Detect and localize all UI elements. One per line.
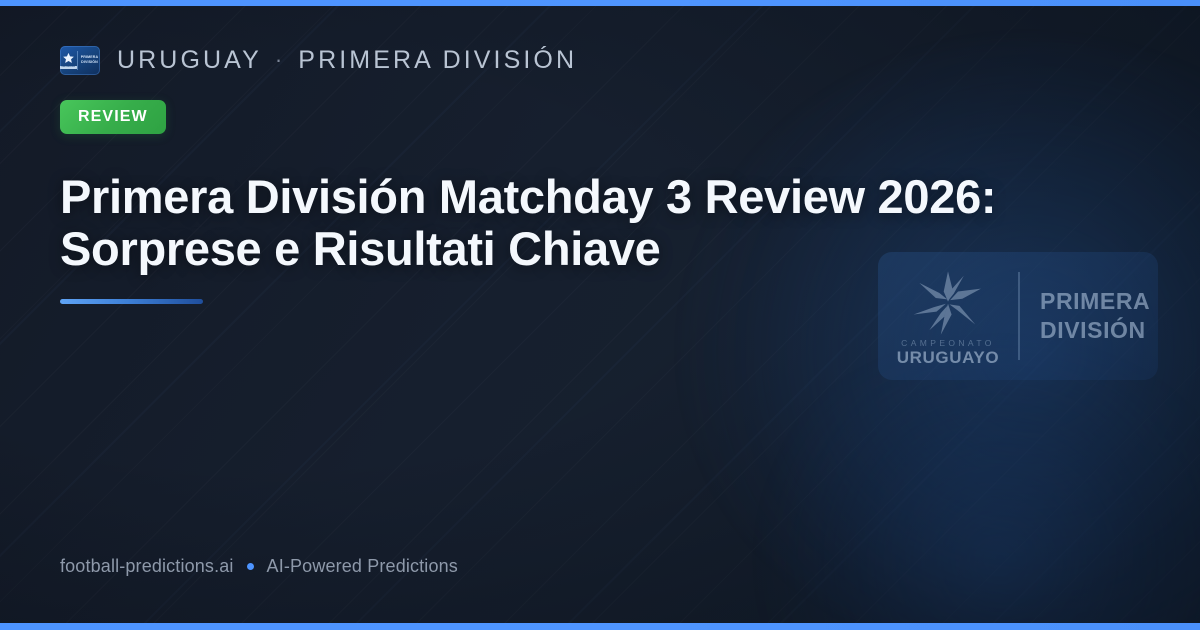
- breadcrumb-country: URUGUAY: [117, 46, 262, 75]
- bottom-accent-bar: [0, 623, 1200, 630]
- page-title: Primera División Matchday 3 Review 2026:…: [60, 171, 1050, 275]
- card-content: URUGUAY PRIMERA DIVISIÓN URUGUAY · PRIME…: [0, 0, 1200, 630]
- title-accent-rule: [60, 299, 203, 304]
- bullet-dot-icon: [247, 563, 254, 570]
- status-badge: REVIEW: [60, 100, 166, 134]
- og-share-card: CAMPEONATO URUGUAYO PRIMERA DIVISIÓN URU…: [0, 0, 1200, 630]
- star-icon: URUGUAY: [60, 46, 77, 75]
- footer: football-predictions.ai AI-Powered Predi…: [60, 556, 458, 577]
- footer-site-name: football-predictions.ai: [60, 556, 234, 577]
- breadcrumb-competition: PRIMERA DIVISIÓN: [298, 46, 577, 75]
- primera-division-league-badge-icon: URUGUAY PRIMERA DIVISIÓN: [60, 46, 100, 75]
- badge-league-label: PRIMERA DIVISIÓN: [78, 56, 100, 65]
- top-accent-bar: [0, 0, 1200, 6]
- breadcrumb-separator: ·: [275, 47, 285, 73]
- breadcrumb: URUGUAY PRIMERA DIVISIÓN URUGUAY · PRIME…: [60, 46, 577, 75]
- footer-tagline: AI-Powered Predictions: [267, 556, 458, 577]
- badge-country-label: URUGUAY: [60, 66, 77, 70]
- breadcrumb-text: URUGUAY · PRIMERA DIVISIÓN: [117, 46, 577, 75]
- star-glyph-icon: [62, 52, 75, 65]
- badge-league-line-2: DIVISIÓN: [81, 61, 98, 65]
